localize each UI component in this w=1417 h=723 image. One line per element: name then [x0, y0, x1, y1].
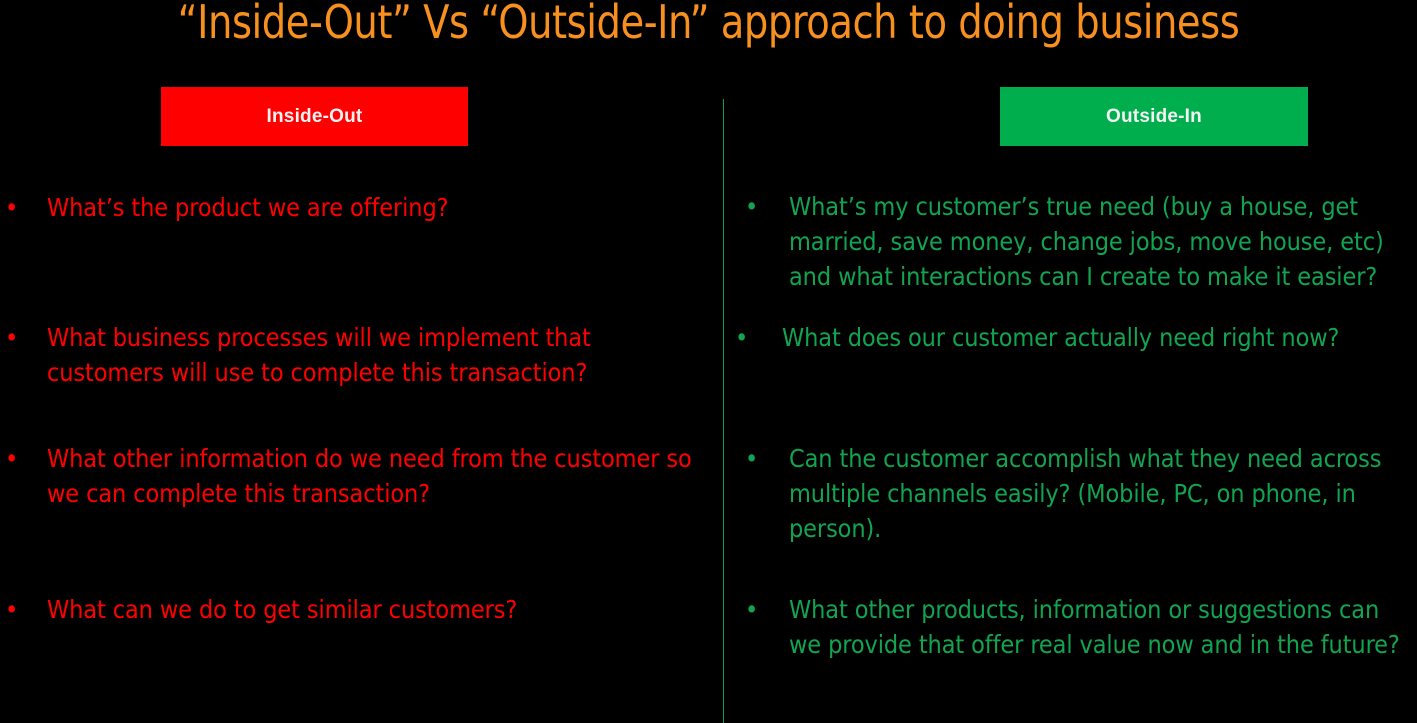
list-item: • What’s the product we are offering? — [5, 190, 702, 225]
list-item-text: Can the customer accomplish what they ne… — [789, 441, 1417, 546]
bullet-icon: • — [735, 320, 760, 355]
list-item: • What’s my customer’s true need (buy a … — [745, 189, 1417, 294]
list-item: • Can the customer accomplish what they … — [745, 441, 1417, 546]
list-item-text: What business processes will we implemen… — [47, 320, 702, 390]
column-header-outside-in: Outside-In — [1000, 87, 1308, 146]
column-header-outside-in-label: Outside-In — [1106, 106, 1202, 128]
list-item-text: What other products, information or sugg… — [789, 592, 1417, 662]
column-header-inside-out-label: Inside-Out — [267, 106, 363, 128]
list-item-text: What other information do we need from t… — [47, 441, 702, 511]
list-item-text: What’s my customer’s true need (buy a ho… — [789, 189, 1417, 294]
list-item: • What does our customer actually need r… — [735, 320, 1417, 355]
list-item-text: What can we do to get similar customers? — [47, 592, 702, 627]
column-divider — [723, 99, 724, 723]
list-item-text: What does our customer actually need rig… — [782, 320, 1417, 355]
bullet-icon: • — [745, 189, 770, 224]
list-item: • What other products, information or su… — [745, 592, 1417, 662]
bullet-icon: • — [5, 190, 30, 225]
bullet-icon: • — [5, 320, 30, 355]
bullet-icon: • — [745, 592, 770, 627]
bullet-icon: • — [5, 441, 30, 476]
page-title: “Inside-Out” Vs “Outside-In” approach to… — [50, 0, 1368, 48]
column-header-inside-out: Inside-Out — [161, 87, 468, 146]
bullet-icon: • — [5, 592, 30, 627]
bullet-icon: • — [745, 441, 770, 476]
list-item: • What business processes will we implem… — [5, 320, 702, 390]
list-item: • What can we do to get similar customer… — [5, 592, 702, 627]
list-item: • What other information do we need from… — [5, 441, 702, 511]
list-item-text: What’s the product we are offering? — [47, 190, 702, 225]
